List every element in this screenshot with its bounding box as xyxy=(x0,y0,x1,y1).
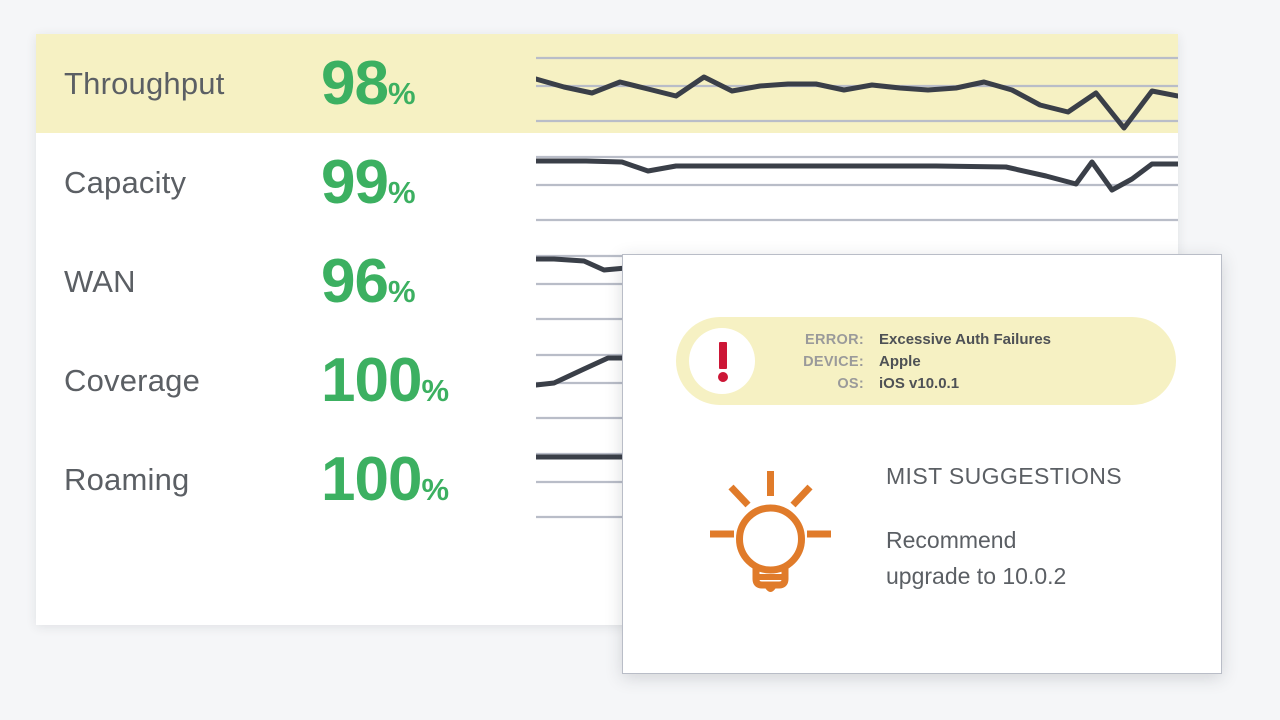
alert-fields: ERROR: Excessive Auth Failures DEVICE: A… xyxy=(772,331,1162,397)
alert-value-os: iOS v10.0.1 xyxy=(879,375,959,392)
metric-unit: % xyxy=(421,472,448,507)
metric-value-coverage: 100% xyxy=(321,350,536,412)
metric-unit: % xyxy=(421,373,448,408)
suggestion-body-line-0: Recommend xyxy=(886,523,1186,559)
alert-value-device: Apple xyxy=(879,353,921,370)
metric-row-throughput[interactable]: Throughput98% xyxy=(36,34,1178,133)
suggestion-body-line-1: upgrade to 10.0.2 xyxy=(886,559,1186,595)
metric-number: 96 xyxy=(321,247,388,316)
metric-label-capacity: Capacity xyxy=(64,165,334,201)
lightbulb-icon xyxy=(708,467,833,602)
exclamation-bar xyxy=(719,342,727,369)
suggestions-title: MIST SUGGESTIONS xyxy=(886,463,1186,490)
metric-number: 100 xyxy=(321,445,421,514)
suggestion-body: Recommendupgrade to 10.0.2 xyxy=(886,523,1186,594)
exclamation-icon xyxy=(689,328,755,394)
alert-badge: ERROR: Excessive Auth Failures DEVICE: A… xyxy=(676,317,1176,405)
sparkline-capacity xyxy=(536,133,1178,232)
metric-unit: % xyxy=(388,175,415,210)
alert-key-device: DEVICE: xyxy=(772,354,864,370)
suggestions-section: MIST SUGGESTIONS Recommendupgrade to 10.… xyxy=(676,455,1186,615)
metric-label-throughput: Throughput xyxy=(64,66,334,102)
alert-row-device: DEVICE: Apple xyxy=(772,353,1162,373)
metric-unit: % xyxy=(388,76,415,111)
metric-row-capacity[interactable]: Capacity99% xyxy=(36,133,1178,232)
metric-value-wan: 96% xyxy=(321,251,536,313)
alert-row-os: OS: iOS v10.0.1 xyxy=(772,375,1162,395)
metric-label-wan: WAN xyxy=(64,264,334,300)
alert-row-error: ERROR: Excessive Auth Failures xyxy=(772,331,1162,351)
metric-value-roaming: 100% xyxy=(321,449,536,511)
metric-number: 99 xyxy=(321,148,388,217)
alert-key-error: ERROR: xyxy=(772,332,864,348)
dashboard-stage: Throughput98%Capacity99%WAN96%Coverage10… xyxy=(0,0,1280,720)
metric-number: 100 xyxy=(321,346,421,415)
alert-key-os: OS: xyxy=(772,376,864,392)
sparkline-throughput xyxy=(536,34,1178,133)
metric-label-roaming: Roaming xyxy=(64,462,334,498)
alert-value-error: Excessive Auth Failures xyxy=(879,331,1051,348)
metric-value-throughput: 98% xyxy=(321,53,536,115)
metric-value-capacity: 99% xyxy=(321,152,536,214)
detail-card[interactable]: ERROR: Excessive Auth Failures DEVICE: A… xyxy=(622,254,1222,674)
metric-number: 98 xyxy=(321,49,388,118)
metric-unit: % xyxy=(388,274,415,309)
suggestion-text-block: MIST SUGGESTIONS Recommendupgrade to 10.… xyxy=(886,463,1186,594)
exclamation-dot xyxy=(718,372,728,382)
metric-label-coverage: Coverage xyxy=(64,363,334,399)
